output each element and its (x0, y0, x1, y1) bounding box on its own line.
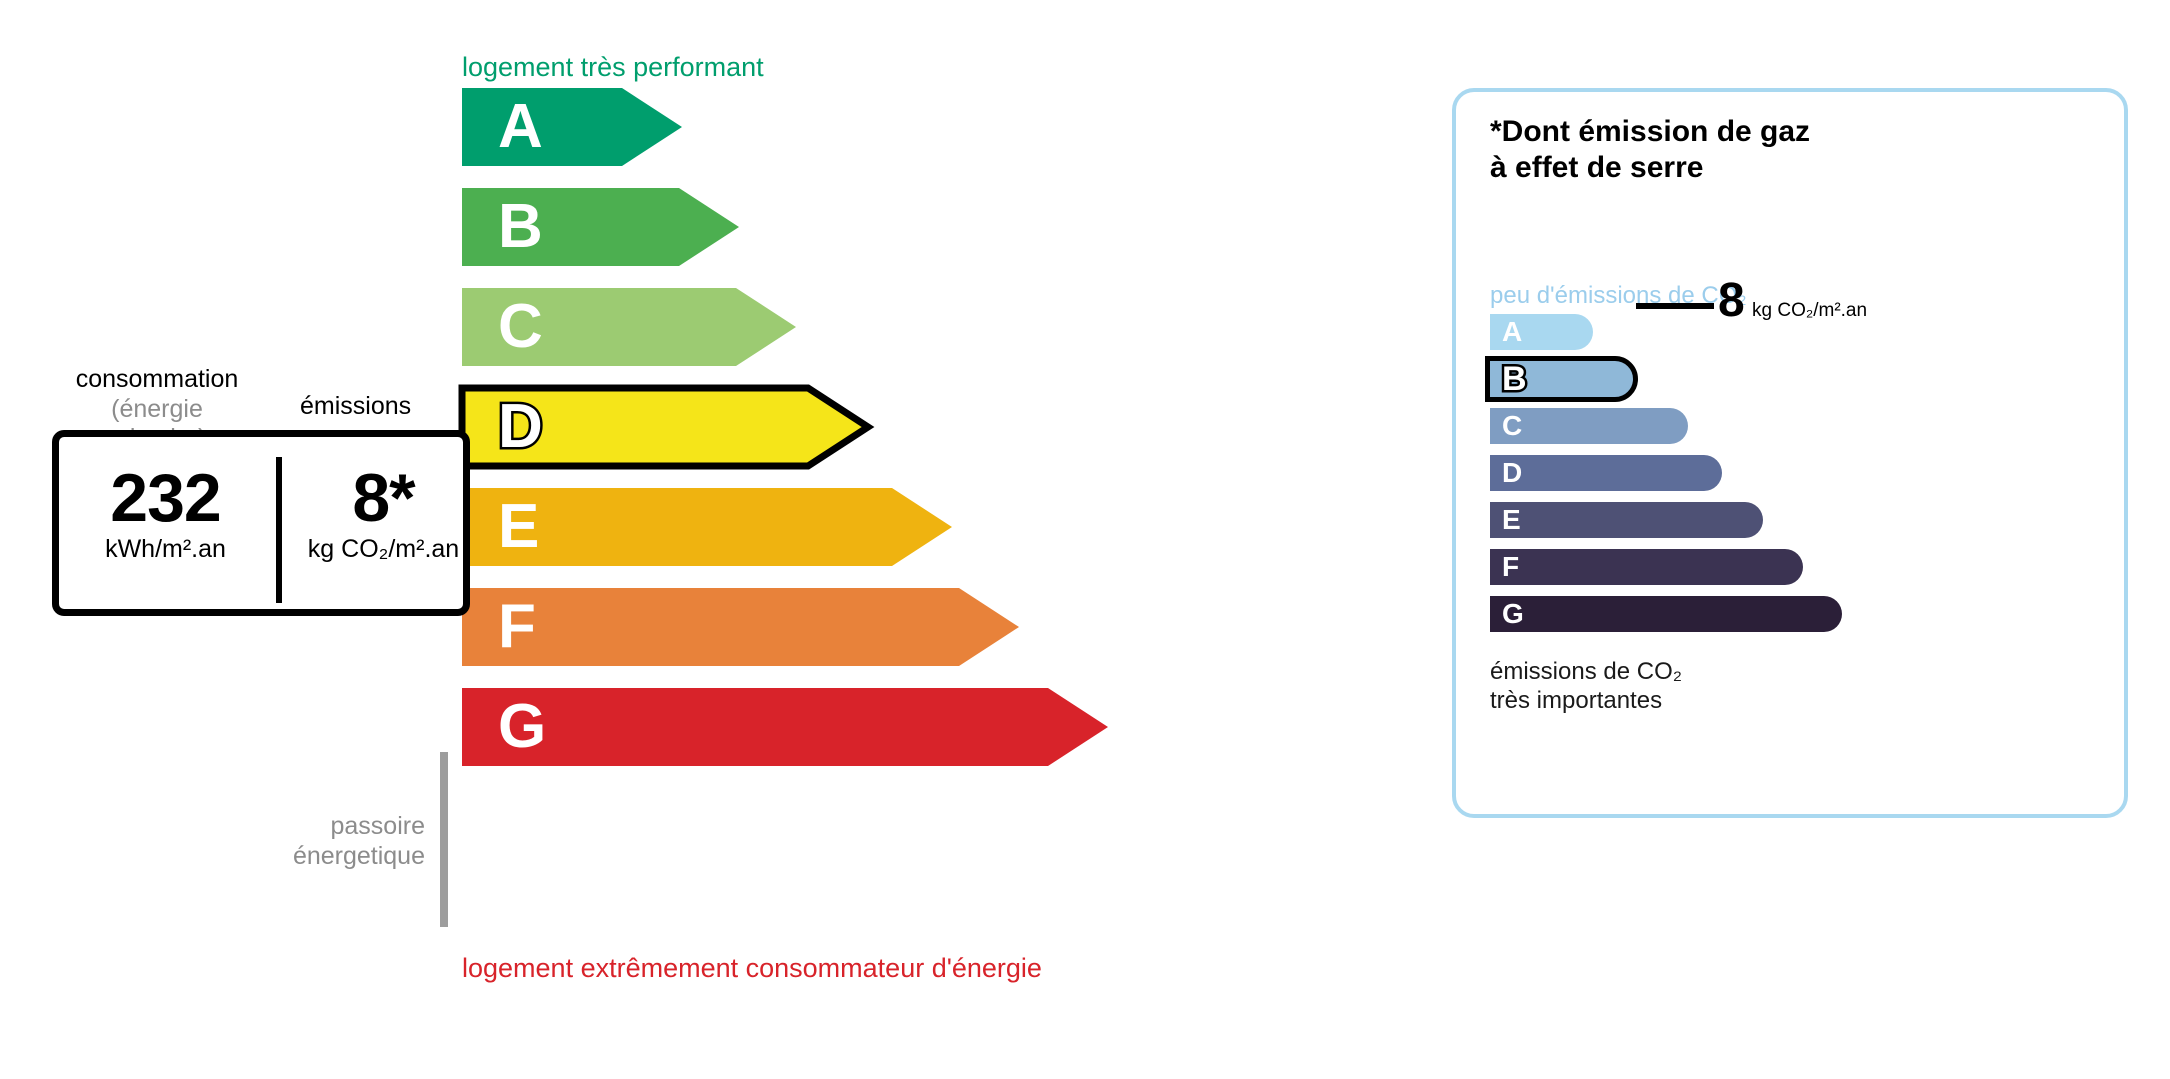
dpe-top-caption: logement très performant (462, 52, 764, 83)
co2-callout-unit: kg CO₂/m².an (1752, 300, 1867, 322)
co2-bar-d: D (1490, 455, 1722, 491)
dpe-band-e: E (462, 488, 952, 566)
co2-bar-e: E (1490, 502, 1763, 538)
co2-bar-a: A (1490, 314, 1593, 350)
co2-bar-letter-g: G (1502, 600, 1524, 628)
co2-callout-line (1636, 303, 1714, 309)
co2-bar-letter-f: F (1502, 553, 1519, 581)
emissions-unit: kg CO₂/m².an (281, 536, 486, 564)
emissions-value: 8* (281, 463, 486, 534)
co2-bottom-caption: émissions de CO₂ très importantes (1490, 658, 1682, 716)
dpe-band-b: B (462, 188, 739, 266)
co2-bar-f: F (1490, 549, 1803, 585)
value-box: 232 kWh/m².an 8* kg CO₂/m².an (52, 430, 470, 616)
dpe-band-c: C (462, 288, 796, 366)
co2-bar-g: G (1490, 596, 1842, 632)
co2-bar-letter-c: C (1502, 412, 1522, 440)
energy-performance-diagram: logement très performant ABCDEFG logemen… (0, 0, 1400, 1079)
passoire-label: passoire énergetique (230, 812, 425, 871)
co2-bar-b: B (1485, 356, 1638, 402)
consumption-value-cell: 232 kWh/m².an (63, 463, 268, 564)
emissions-label: émissions (300, 392, 411, 421)
co2-callout-value: 8 (1718, 277, 1745, 325)
co2-bar-letter-d: D (1502, 459, 1522, 487)
consumption-unit: kWh/m².an (63, 536, 268, 564)
dpe-band-g: G (462, 688, 1108, 766)
co2-panel: *Dont émission de gaz à effet de serre p… (1452, 88, 2128, 818)
co2-bar-letter-a: A (1502, 318, 1522, 346)
dpe-bottom-caption: logement extrêmement consommateur d'éner… (462, 953, 1042, 984)
dpe-band-a: A (462, 88, 682, 166)
dpe-band-d: D (453, 379, 877, 475)
co2-panel-title: *Dont émission de gaz à effet de serre (1490, 114, 1810, 186)
passoire-bracket (440, 752, 448, 927)
co2-bar-letter-e: E (1502, 506, 1521, 534)
co2-bar-c: C (1490, 408, 1688, 444)
dpe-band-f: F (462, 588, 1019, 666)
co2-bar-letter-b: B (1502, 362, 1527, 396)
consumption-label-main: consommation (76, 365, 239, 393)
emissions-value-cell: 8* kg CO₂/m².an (281, 463, 486, 564)
consumption-value: 232 (63, 463, 268, 534)
